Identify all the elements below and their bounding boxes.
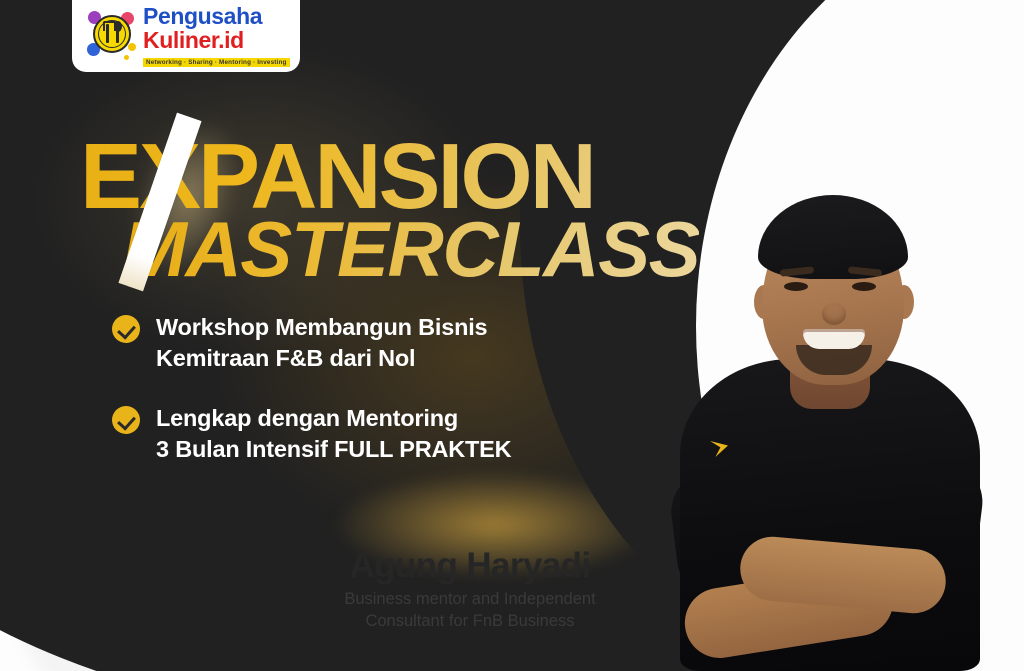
brand-name-line1: Pengusaha xyxy=(143,5,290,28)
bullet-text: Workshop Membangun Bisnis Kemitraan F&B … xyxy=(156,312,487,373)
portrait-smile xyxy=(803,329,865,349)
dot-yellow-large-icon xyxy=(128,43,136,51)
fork-icon xyxy=(106,24,109,43)
bullet-text: Lengkap dengan Mentoring 3 Bulan Intensi… xyxy=(156,403,511,464)
list-item: Workshop Membangun Bisnis Kemitraan F&B … xyxy=(112,312,511,373)
plate-fork-spoon-icon xyxy=(84,9,138,63)
spoon-icon xyxy=(116,30,119,43)
dot-yellow-small-icon xyxy=(124,55,129,60)
brand-wordmark: Pengusaha Kuliner.id Networking · Sharin… xyxy=(143,5,290,68)
speaker-role: Business mentor and Independent Consulta… xyxy=(300,589,640,633)
promo-banner: Pengusaha Kuliner.id Networking · Sharin… xyxy=(0,0,1024,671)
list-item: Lengkap dengan Mentoring 3 Bulan Intensi… xyxy=(112,403,511,464)
bullet-list: Workshop Membangun Bisnis Kemitraan F&B … xyxy=(112,312,511,494)
check-circle-icon xyxy=(112,406,140,434)
speaker-block: Agung Haryadi Business mentor and Indepe… xyxy=(300,548,640,632)
portrait-nose xyxy=(822,303,846,325)
headline-sub: MASTERCLASS xyxy=(122,212,699,286)
portrait-eye-left xyxy=(784,282,808,291)
brand-tagline: Networking · Sharing · Mentoring · Inves… xyxy=(143,58,290,67)
speaker-name: Agung Haryadi xyxy=(300,548,640,585)
speaker-portrait xyxy=(666,111,996,671)
portrait-hair xyxy=(758,195,908,279)
check-circle-icon xyxy=(112,315,140,343)
brand-logo[interactable]: Pengusaha Kuliner.id Networking · Sharin… xyxy=(72,0,300,72)
portrait-eye-right xyxy=(852,282,876,291)
brand-name-line2: Kuliner.id xyxy=(143,29,290,52)
